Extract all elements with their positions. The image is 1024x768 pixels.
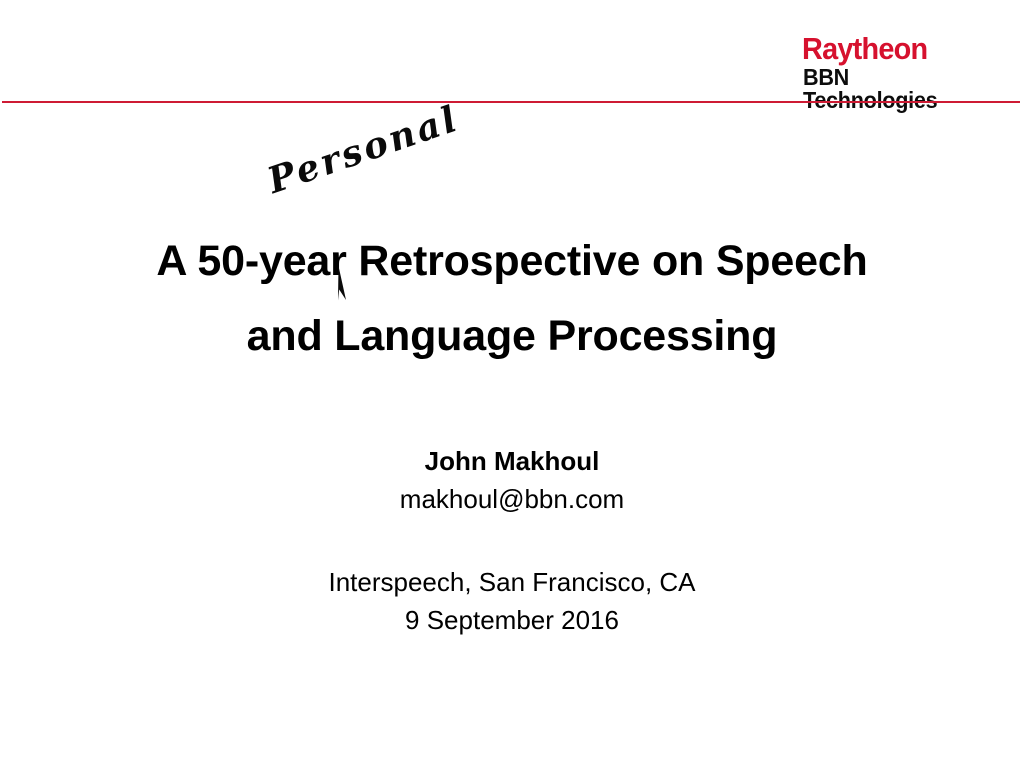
author-info: John Makhoul makhoul@bbn.com bbox=[0, 442, 1024, 518]
venue-info: Interspeech, San Francisco, CA 9 Septemb… bbox=[0, 563, 1024, 639]
title-line-2: and Language Processing bbox=[0, 299, 1024, 374]
author-name: John Makhoul bbox=[0, 442, 1024, 480]
venue-location: Interspeech, San Francisco, CA bbox=[0, 563, 1024, 601]
insertion-caret-icon bbox=[324, 266, 354, 302]
author-email: makhoul@bbn.com bbox=[0, 480, 1024, 518]
header-divider-rule bbox=[2, 101, 1020, 103]
slide-title: A 50-year Retrospective on Speech and La… bbox=[0, 224, 1024, 374]
bbn-technologies-wordmark: BBN Technologies bbox=[803, 66, 985, 112]
venue-date: 9 September 2016 bbox=[0, 601, 1024, 639]
presentation-title-slide: Raytheon BBN Technologies A 50-year Retr… bbox=[0, 0, 1024, 768]
title-line-1: A 50-year Retrospective on Speech bbox=[0, 224, 1024, 299]
raytheon-wordmark: Raytheon bbox=[802, 33, 983, 64]
handwritten-annotation-personal: Personal bbox=[262, 97, 464, 202]
